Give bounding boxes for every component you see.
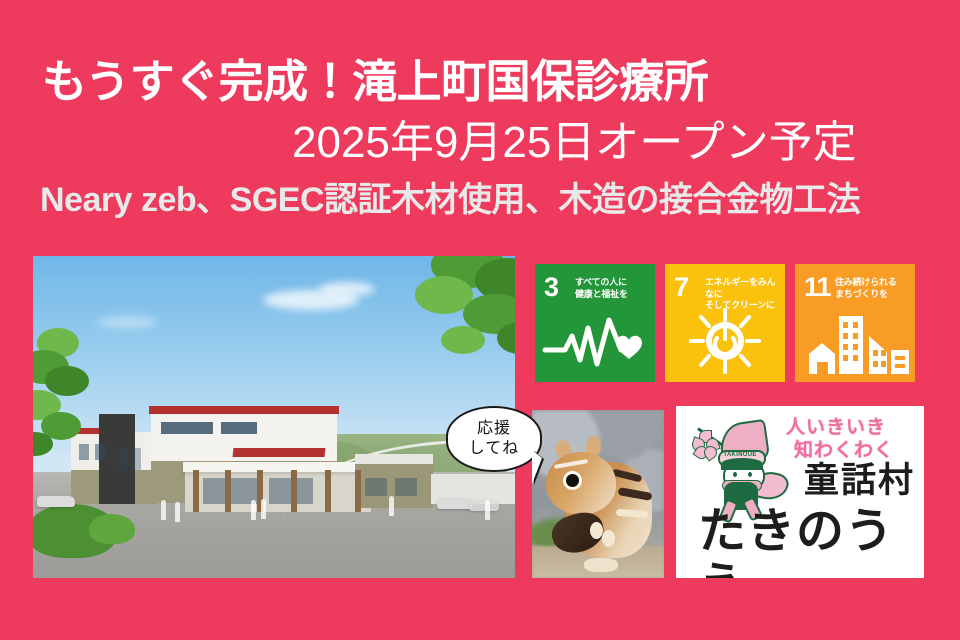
logo-kana: たきのうえ bbox=[698, 504, 924, 578]
canopy-column bbox=[225, 470, 231, 512]
chipmunk-photo bbox=[532, 410, 664, 578]
figure bbox=[389, 496, 394, 516]
speech-bubble-text: 応援 してね bbox=[469, 419, 520, 459]
sdg-icon-row: 3 すべての人に 健康と福祉を 7 エネルギーをみんなに そしてクリーンに bbox=[535, 264, 915, 382]
hair bbox=[721, 458, 763, 470]
takinoue-mascot: TAKINOUE bbox=[690, 422, 794, 510]
sdg-tile-11[interactable]: 11 住み続けられる まちづくりを bbox=[795, 264, 915, 382]
figure bbox=[485, 500, 490, 520]
entry-roof-accent bbox=[233, 448, 326, 457]
entrance-canopy bbox=[183, 462, 373, 472]
roof-accent-main bbox=[149, 406, 339, 414]
logo-tagline-line-1: 人いきいき bbox=[786, 416, 920, 439]
figure bbox=[161, 500, 166, 520]
sdg-tile-7[interactable]: 7 エネルギーをみんなに そしてクリーンに bbox=[665, 264, 785, 382]
tree-right bbox=[371, 256, 515, 382]
sdg-number: 11 bbox=[804, 274, 831, 301]
eye bbox=[733, 472, 737, 477]
poster-canvas: もうすぐ完成！滝上町国保診療所 2025年9月25日オープン予定 Neary z… bbox=[0, 0, 960, 640]
figure bbox=[261, 499, 266, 519]
headline-line-1: もうすぐ完成！滝上町国保診療所 bbox=[42, 56, 708, 108]
window bbox=[395, 478, 417, 496]
figure bbox=[175, 502, 180, 522]
cloud bbox=[319, 282, 375, 296]
sun-power-icon bbox=[665, 306, 785, 376]
speech-bubble-line-1: 応援 bbox=[469, 419, 520, 439]
canopy-column bbox=[193, 470, 199, 512]
headline-line-2: 2025年9月25日オープン予定 bbox=[292, 118, 857, 168]
bush bbox=[89, 514, 135, 544]
window bbox=[133, 448, 141, 470]
canopy-column bbox=[355, 470, 361, 512]
paw bbox=[602, 530, 615, 547]
speech-bubble-line-2: してね bbox=[469, 439, 520, 459]
clinic-rendering-image bbox=[33, 256, 515, 578]
window-band bbox=[161, 422, 213, 434]
speech-bubble-tail bbox=[532, 450, 542, 484]
sdg-tile-3[interactable]: 3 すべての人に 健康と福祉を bbox=[535, 264, 655, 382]
logo-tagline-line-2: 知わくわく bbox=[794, 439, 920, 462]
sdg-number: 7 bbox=[674, 274, 688, 301]
eye bbox=[566, 474, 579, 487]
figure bbox=[251, 500, 256, 520]
city-buildings-icon bbox=[795, 306, 915, 376]
eye bbox=[748, 472, 752, 477]
logo-tagline: 人いきいき 知わくわく bbox=[786, 416, 920, 462]
tree-left bbox=[33, 316, 125, 466]
headline-line-3: Neary zeb、SGEC認証木材使用、木造の接合金物工法 bbox=[40, 180, 860, 220]
canopy-column bbox=[291, 470, 297, 512]
town-logo[interactable]: TAKINOUE 人いきいき 知わくわく 童話村 たきのうえ bbox=[676, 406, 924, 578]
sdg-label: 住み続けられる まちづくりを bbox=[835, 277, 911, 300]
heartbeat-icon bbox=[535, 306, 655, 376]
foot bbox=[584, 558, 618, 572]
window bbox=[365, 478, 387, 496]
cherry-blossom-icon bbox=[692, 430, 718, 456]
canopy-column bbox=[325, 470, 331, 512]
parked-car bbox=[37, 496, 75, 507]
logo-kanji: 童話村 bbox=[804, 462, 915, 500]
parked-car bbox=[469, 500, 499, 511]
paw bbox=[590, 522, 603, 539]
speech-bubble: 応援 してね bbox=[446, 406, 542, 472]
sdg-number: 3 bbox=[544, 274, 558, 301]
window-band bbox=[221, 422, 257, 434]
parked-car bbox=[437, 498, 473, 509]
sdg-label: すべての人に 健康と福祉を bbox=[575, 277, 651, 300]
